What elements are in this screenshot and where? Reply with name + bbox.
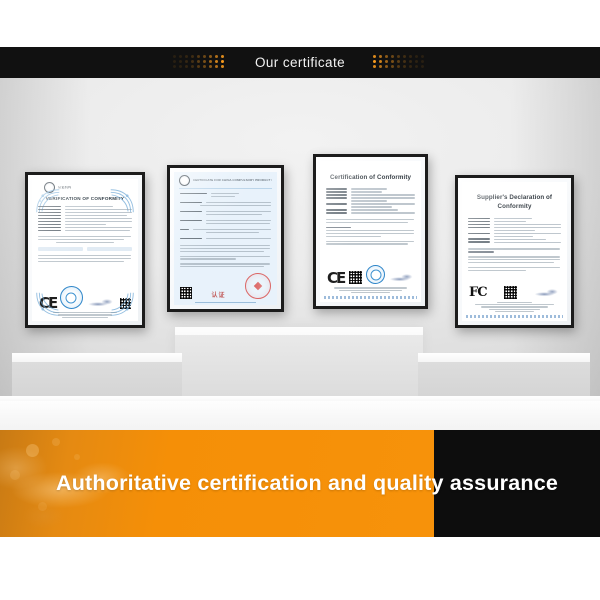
certificate-frame-4[interactable]: Supplier's Declaration of Conformity [455, 175, 574, 328]
certificate-body-1 [32, 204, 138, 284]
certificate-bottom-pattern [324, 296, 417, 299]
certificate-bottom-pattern [466, 315, 563, 318]
certificate-paper-4: Supplier's Declaration of Conformity [462, 182, 567, 321]
pedestal-center [175, 327, 423, 397]
certificate-title-4: Supplier's Declaration of Conformity [462, 182, 567, 216]
ornament-icon [109, 188, 135, 214]
pedestal-floor [0, 396, 600, 430]
certificate-showcase-banner: Our certificate [0, 0, 600, 600]
certificate-marks-4: FC [462, 284, 567, 301]
dot-pattern-right-icon [373, 55, 427, 70]
ornament-icon [35, 188, 61, 214]
qr-code-icon [504, 286, 517, 299]
certificate-footer-3 [320, 286, 421, 296]
ce-mark-icon: CE [327, 272, 344, 284]
fcc-mark-icon: FC [469, 288, 487, 298]
page-title: Our certificate [255, 55, 345, 70]
certificate-marks-3: CE [320, 263, 421, 286]
certificate-title-3: Certification of Conformity [320, 161, 421, 186]
banner-headline: Authoritative certification and quality … [56, 430, 558, 537]
certificate-paper-1: 认证机构 VERIFICATION OF CONFORMITY [32, 179, 138, 321]
certificate-footer-4 [462, 301, 567, 316]
certificate-title-2: CERTIFICATE FOR CHINA COMPULSORY PRODUCT… [193, 179, 272, 182]
blue-seal-icon [366, 265, 385, 284]
ornament-icon [35, 291, 61, 317]
qr-code-icon [349, 271, 362, 284]
authority-stamp-icon: 认证 [211, 290, 225, 299]
ccc-emblem-icon [179, 175, 190, 186]
bottom-banner: Authoritative certification and quality … [0, 430, 600, 537]
certificate-paper-2: CERTIFICATE FOR CHINA COMPULSORY PRODUCT… [174, 172, 277, 305]
top-white-margin [0, 0, 600, 47]
certificate-body-4 [462, 216, 567, 284]
certificate-body-2 [174, 191, 277, 271]
signature-icon [390, 272, 414, 284]
dot-pattern-left-icon [173, 55, 227, 70]
certificate-paper-3: Certification of Conformity [320, 161, 421, 302]
header-bar: Our certificate [0, 47, 600, 78]
certificate-frame-1[interactable]: 认证机构 VERIFICATION OF CONFORMITY [25, 172, 145, 328]
ornament-icon [109, 291, 135, 317]
qr-code-icon [180, 287, 192, 299]
bottom-white-margin [0, 537, 600, 600]
certificate-frame-2[interactable]: CERTIFICATE FOR CHINA COMPULSORY PRODUCT… [167, 165, 284, 312]
certificate-frame-3[interactable]: Certification of Conformity [313, 154, 428, 309]
red-seal-icon [245, 273, 271, 299]
certificate-body-3 [320, 186, 421, 263]
blue-seal-icon [60, 286, 83, 309]
signature-icon [534, 287, 560, 299]
